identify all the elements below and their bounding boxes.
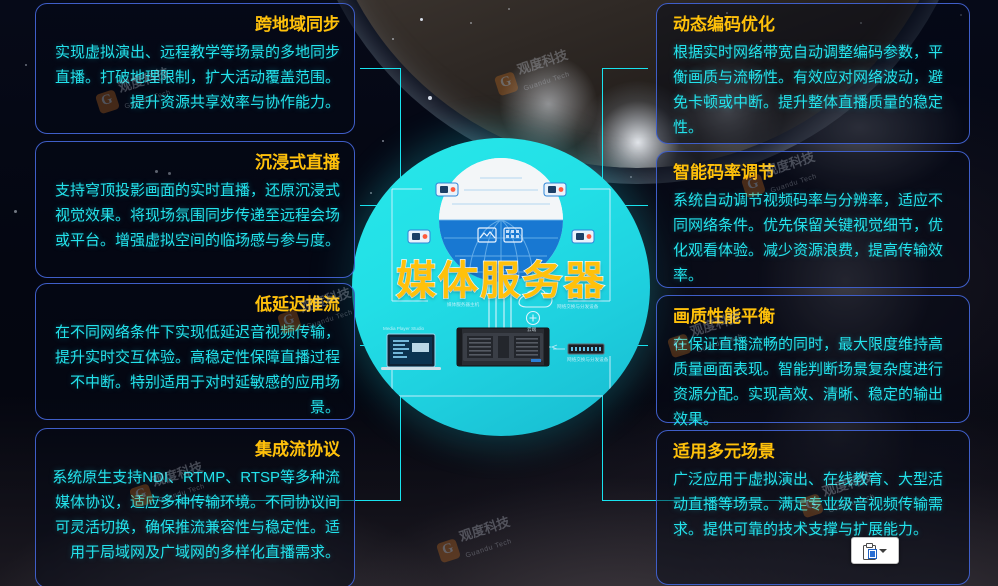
feature-card-multi-scenario[interactable]: 适用多元场景 广泛应用于虚拟演出、在线教育、大型活动直播等场景。满足专业级音视频… [656, 430, 970, 585]
feature-card-integrated-protocols[interactable]: 集成流协议 系统原生支持NDI、RTMP、RTSP等多种流媒体协议，适应多种传输… [35, 428, 355, 586]
hub-title: 媒体服务器 [352, 248, 650, 306]
feature-card-smart-bitrate[interactable]: 智能码率调节 系统自动调节视频码率与分辨率，适应不同网络条件。优先保留关键视觉细… [656, 151, 970, 288]
paste-options-button[interactable] [851, 537, 899, 564]
card-body: 广泛应用于虚拟演出、在线教育、大型活动直播等场景。满足专业级音视频传输需求。提供… [673, 467, 955, 542]
svg-text:网络交换与分发设备: 网络交换与分发设备 [567, 356, 609, 363]
card-title: 画质性能平衡 [673, 306, 955, 328]
card-body: 系统自动调节视频码率与分辨率，适应不同网络条件。优先保留关键视觉细节，优化观看体… [673, 188, 955, 288]
card-title: 低延迟推流 [52, 294, 340, 316]
card-title: 沉浸式直播 [52, 152, 340, 174]
card-body: 实现虚拟演出、远程教学等场景的多地同步直播。打破地理限制，扩大活动覆盖范围。提升… [52, 40, 340, 115]
card-body: 根据实时网络带宽自动调整编码参数，平衡画质与流畅性。有效应对网络波动，避免卡顿或… [673, 40, 955, 140]
card-title: 智能码率调节 [673, 162, 955, 184]
card-body: 在不同网络条件下实现低延迟音视频传输，提升实时交互体验。高稳定性保障直播过程不中… [52, 320, 340, 420]
feature-card-quality-performance-balance[interactable]: 画质性能平衡 在保证直播流畅的同时，最大限度维持高质量画面表现。智能判断场景复杂… [656, 295, 970, 423]
feature-card-low-latency-push[interactable]: 低延迟推流 在不同网络条件下实现低延迟音视频传输，提升实时交互体验。高稳定性保障… [35, 283, 355, 420]
card-title: 适用多元场景 [673, 441, 955, 463]
feature-card-immersive-live[interactable]: 沉浸式直播 支持穹顶投影画面的实时直播，还原沉浸式视觉效果。将现场氛围同步传递至… [35, 141, 355, 278]
card-body: 系统原生支持NDI、RTMP、RTSP等多种流媒体协议，适应多种传输环境。不同协… [52, 465, 340, 565]
slide-canvas: Media Player Studio 媒体服务器主机 网络交换与分发设备 网络… [0, 0, 998, 586]
feature-card-dynamic-encoding[interactable]: 动态编码优化 根据实时网络带宽自动调整编码参数，平衡画质与流畅性。有效应对网络波… [656, 3, 970, 144]
clipboard-icon [863, 543, 876, 558]
card-title: 跨地域同步 [52, 14, 340, 36]
media-server-hub: Media Player Studio 媒体服务器主机 网络交换与分发设备 网络… [352, 138, 650, 436]
chevron-down-icon[interactable] [879, 549, 887, 553]
card-title: 集成流协议 [52, 439, 340, 461]
feature-card-cross-region-sync[interactable]: 跨地域同步 实现虚拟演出、远程教学等场景的多地同步直播。打破地理限制，扩大活动覆… [35, 3, 355, 134]
card-body: 支持穹顶投影画面的实时直播，还原沉浸式视觉效果。将现场氛围同步传递至远程会场或平… [52, 178, 340, 253]
svg-text:云端: 云端 [527, 326, 537, 333]
card-body: 在保证直播流畅的同时，最大限度维持高质量画面表现。智能判断场景复杂度进行资源分配… [673, 332, 955, 432]
svg-text:Media Player Studio: Media Player Studio [383, 326, 425, 331]
card-title: 动态编码优化 [673, 14, 955, 36]
